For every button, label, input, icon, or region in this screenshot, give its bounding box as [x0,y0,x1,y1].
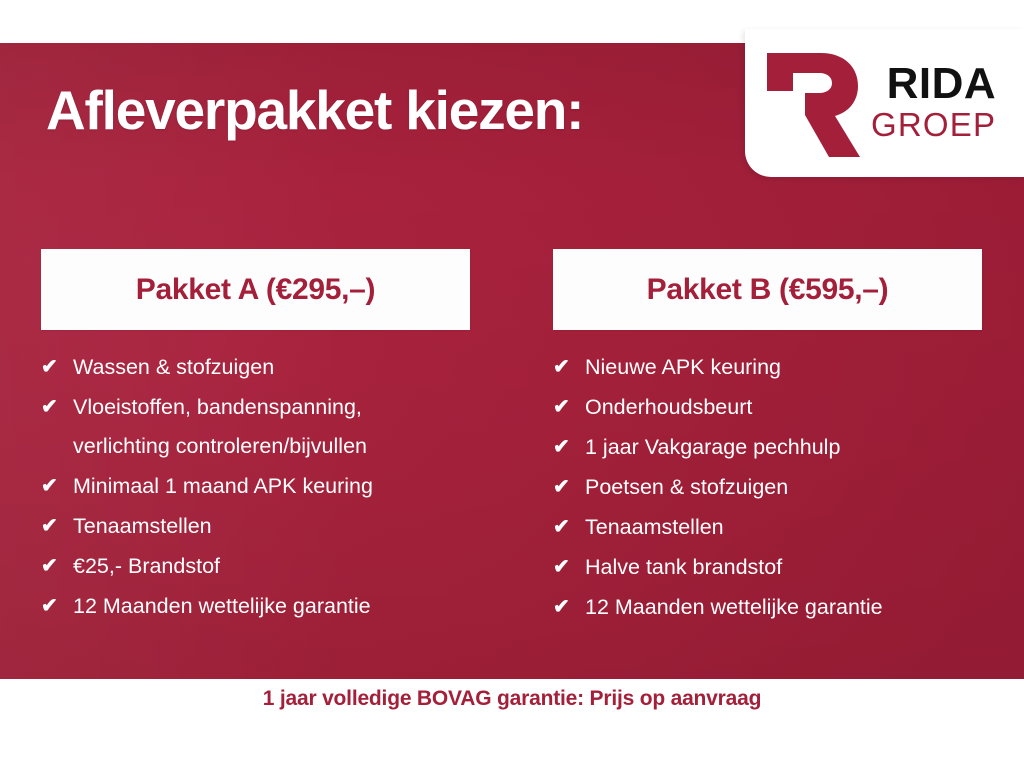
footer-band: 1 jaar volledige BOVAG garantie: Prijs o… [0,679,1024,768]
list-item-label: Onderhoudsbeurt [585,388,975,427]
package-b-feature-list: ✔ Nieuwe APK keuring ✔ Onderhoudsbeurt ✔… [553,348,982,627]
list-item-label: €25,- Brandstof [73,547,463,586]
list-item-label: Tenaamstellen [585,508,975,547]
package-b-header: Pakket B (€595,–) [553,249,982,330]
list-item-label: Halve tank brandstof [585,548,975,587]
list-item: ✔ Tenaamstellen [41,507,470,546]
check-icon: ✔ [41,388,73,427]
list-item: ✔ Onderhoudsbeurt [553,388,982,427]
packages-container: Pakket A (€295,–) ✔ Wassen & stofzuigen … [41,249,983,628]
list-item: ✔ Vloeistoffen, bandenspanning, verlicht… [41,388,470,466]
promo-slide: Afleverpakket kiezen: RIDA GROEP Pakket … [0,0,1024,768]
check-icon: ✔ [553,428,585,467]
package-card-b: Pakket B (€595,–) ✔ Nieuwe APK keuring ✔… [553,249,982,628]
check-icon: ✔ [41,587,73,626]
list-item-label: Vloeistoffen, bandenspanning, verlichtin… [73,388,463,466]
list-item: ✔ €25,- Brandstof [41,547,470,586]
list-item-label: Poetsen & stofzuigen [585,468,975,507]
check-icon: ✔ [553,468,585,507]
list-item: ✔ Wassen & stofzuigen [41,348,470,387]
logo-name: RIDA [887,62,997,106]
package-card-a: Pakket A (€295,–) ✔ Wassen & stofzuigen … [41,249,470,628]
package-b-title: Pakket B (€595,–) [647,273,889,307]
list-item-label: Minimaal 1 maand APK keuring [73,467,463,506]
check-icon: ✔ [41,467,73,506]
check-icon: ✔ [41,507,73,546]
footer-guarantee-text: 1 jaar volledige BOVAG garantie: Prijs o… [263,687,761,768]
list-item-label: 12 Maanden wettelijke garantie [585,588,975,627]
list-item: ✔ 1 jaar Vakgarage pechhulp [553,428,982,467]
check-icon: ✔ [553,508,585,547]
list-item-label: Nieuwe APK keuring [585,348,975,387]
list-item: ✔ Minimaal 1 maand APK keuring [41,467,470,506]
list-item: ✔ 12 Maanden wettelijke garantie [41,587,470,626]
check-icon: ✔ [553,388,585,427]
list-item-label: 1 jaar Vakgarage pechhulp [585,428,975,467]
check-icon: ✔ [41,348,73,387]
list-item: ✔ Poetsen & stofzuigen [553,468,982,507]
brand-logo: RIDA GROEP [745,29,1024,177]
package-a-header: Pakket A (€295,–) [41,249,470,330]
list-item-label: Tenaamstellen [73,507,463,546]
logo-wordmark: RIDA GROEP [871,62,996,145]
rida-r-monogram-icon [759,45,863,161]
list-item: ✔ Tenaamstellen [553,508,982,547]
check-icon: ✔ [41,547,73,586]
list-item-label: Wassen & stofzuigen [73,348,463,387]
logo-subtitle: GROEP [871,108,996,141]
package-a-title: Pakket A (€295,–) [136,273,376,307]
list-item: ✔ Nieuwe APK keuring [553,348,982,387]
list-item-label: 12 Maanden wettelijke garantie [73,587,463,626]
package-a-feature-list: ✔ Wassen & stofzuigen ✔ Vloeistoffen, ba… [41,348,470,626]
check-icon: ✔ [553,348,585,387]
check-icon: ✔ [553,588,585,627]
list-item: ✔ Halve tank brandstof [553,548,982,587]
page-title: Afleverpakket kiezen: [46,78,583,142]
check-icon: ✔ [553,548,585,587]
list-item: ✔ 12 Maanden wettelijke garantie [553,588,982,627]
